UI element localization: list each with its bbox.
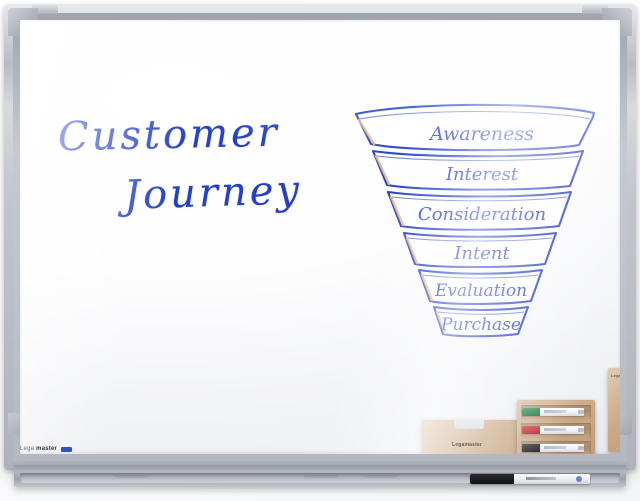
marker-red[interactable] — [522, 426, 584, 434]
marker-tip — [578, 410, 584, 414]
tray-mount — [304, 474, 338, 478]
board-wiper[interactable]: Legamaster — [422, 420, 518, 454]
marker-slot[interactable] — [521, 441, 591, 454]
strip-brand-logo: Legamaster — [611, 373, 620, 378]
svg-text:Intent: Intent — [453, 243, 510, 264]
brand-logo-prefix: Lega — [20, 446, 34, 452]
marker-cap-black — [522, 444, 540, 452]
whiteboard-surface[interactable]: Customer Journey Awareness Interest — [20, 20, 620, 454]
svg-text:Interest: Interest — [445, 164, 519, 185]
svg-text:Purchase: Purchase — [440, 315, 521, 335]
whiteboard-scene: Customer Journey Awareness Interest — [0, 0, 640, 501]
tray-marker-ink-dot — [576, 476, 582, 482]
svg-text:Evaluation: Evaluation — [434, 281, 527, 301]
tray-lip — [14, 465, 626, 472]
marker-black[interactable] — [522, 444, 584, 452]
marker-tip — [578, 446, 584, 450]
marker-cap-green — [522, 408, 540, 416]
pen-tray[interactable] — [14, 465, 626, 487]
cardboard-strip[interactable]: Legamaster — [608, 368, 620, 452]
whiteboard-frame: Customer Journey Awareness Interest — [4, 4, 636, 470]
handwritten-title-line-1: Customer — [58, 110, 281, 161]
brand-logo-suffix: master — [36, 446, 57, 452]
tray-mount — [364, 474, 398, 478]
wiper-notch — [454, 420, 484, 429]
marker-label — [544, 446, 566, 449]
customer-journey-funnel: Awareness Interest Consideration In — [350, 100, 600, 340]
tray-marker-cap — [470, 474, 514, 484]
marker-holder[interactable] — [517, 400, 595, 454]
marker-tip — [578, 428, 584, 432]
marker-slot[interactable] — [521, 405, 591, 420]
brand-logo-mark-icon — [61, 447, 72, 452]
svg-text:Awareness: Awareness — [428, 123, 534, 145]
svg-text:Consideration: Consideration — [418, 204, 546, 225]
marker-slot[interactable] — [521, 423, 591, 438]
marker-label — [544, 428, 566, 431]
tray-mount — [114, 474, 148, 478]
tray-marker-black[interactable] — [470, 474, 590, 484]
handwritten-title-line-2: Journey — [123, 167, 302, 219]
brand-logo: Lega master — [20, 446, 72, 452]
wiper-brand-logo: Legamaster — [452, 442, 482, 448]
marker-green[interactable] — [522, 408, 584, 416]
tray-marker-label — [526, 477, 556, 480]
marker-cap-red — [522, 426, 540, 434]
marker-label — [544, 410, 566, 413]
